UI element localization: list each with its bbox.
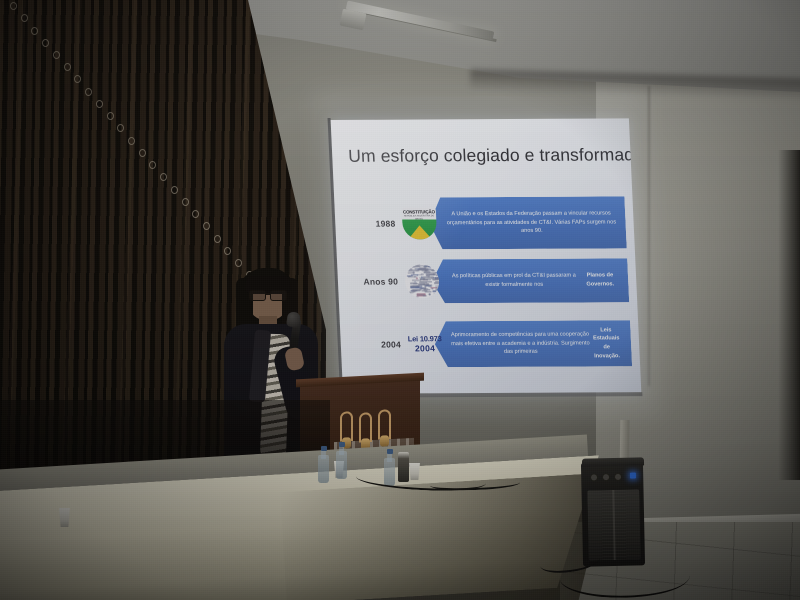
pa-knob[interactable] [602, 473, 610, 481]
pa-power-led-icon [630, 473, 636, 479]
emblem-subheading: REPÚBLICA FEDERATIVA DO BRASIL [402, 215, 436, 220]
pa-knob[interactable] [590, 473, 598, 481]
curtain-hook [203, 222, 210, 230]
pa-knob[interactable] [614, 473, 622, 481]
law-badge: Lei 10.973 2004 [404, 328, 445, 360]
curtain-hook [224, 247, 231, 255]
curtain-hook [10, 2, 17, 10]
bottle-cap [321, 446, 327, 451]
bottle-body [336, 451, 347, 479]
bottle-neck [387, 453, 392, 462]
curtain-hook [192, 210, 199, 218]
projection-screen: Um esforço colegiado e transformador 198… [330, 104, 644, 401]
curtain-hook [64, 63, 71, 71]
medal-disc [380, 435, 389, 446]
word-cloud-icon [403, 263, 441, 299]
curtain-hook [160, 173, 167, 181]
curtain-hook [96, 100, 103, 108]
bottle-cap [387, 449, 393, 454]
curtain-hook [53, 51, 60, 59]
curtain-hook [182, 198, 189, 206]
emblem-heading: CONSTITUIÇÃO [402, 209, 436, 214]
timeline-year-label: 1988 [343, 219, 401, 229]
word-cloud-circle [404, 264, 440, 298]
curtain-hook [42, 39, 49, 47]
law-badge-icon: Lei 10.973 2004 [406, 326, 444, 362]
water-bottle [318, 446, 329, 483]
curtain-hook [171, 186, 178, 194]
pa-control-panel [586, 469, 640, 484]
curtain-hook [107, 112, 114, 120]
emblem-shield: CONSTITUIÇÃO REPÚBLICA FEDERATIVA DO BRA… [402, 207, 437, 239]
law-badge-line1: Lei 10.973 [408, 335, 442, 343]
curtain-hook [21, 14, 28, 22]
timeline-row: 2004 Lei 10.973 2004 Aprimoramento de co… [348, 320, 632, 367]
curtain-hook [128, 137, 135, 145]
bottle-neck [321, 450, 326, 459]
curtain-hook [149, 161, 156, 169]
timeline-row: 1988 CONSTITUIÇÃO REPÚBLICA FEDERATIVA D… [342, 196, 627, 249]
timeline-banner-text: A União e os Estados da Federação passam… [428, 196, 627, 249]
pa-top-handle [582, 457, 644, 466]
bottle-body [318, 455, 329, 483]
presentation-slide: Um esforço colegiado e transformador 198… [331, 118, 642, 393]
timeline-year-label: 2004 [349, 339, 407, 349]
timeline-banner-text: As políticas públicas em prol da CT&I pa… [431, 258, 629, 303]
medal [378, 409, 391, 450]
timeline-year-label: Anos 90 [346, 276, 404, 286]
microphone-head [286, 311, 301, 328]
glasses-icon [249, 290, 287, 300]
water-bottle [336, 442, 347, 479]
curtain-hook [117, 124, 124, 132]
glasses-lens-right [270, 290, 287, 301]
slide-title: Um esforço colegiado e transformador [348, 144, 621, 166]
emblem-triangle [408, 225, 433, 239]
law-badge-line2: 2004 [415, 344, 436, 353]
curtain-hook [139, 149, 146, 157]
curtain-hook [74, 75, 81, 83]
bottle-neck [339, 446, 344, 455]
timeline-row: Anos 90 As políticas públicas em prol da… [345, 258, 629, 303]
photograph-scene: Um esforço colegiado e transformador 198… [0, 0, 800, 600]
constitution-emblem-icon: CONSTITUIÇÃO REPÚBLICA FEDERATIVA DO BRA… [401, 205, 439, 241]
glasses-lens-left [249, 290, 266, 301]
curtain-hook [31, 27, 38, 35]
curtain-hook [214, 235, 221, 243]
curtain-hook [85, 88, 92, 96]
bottle-cap [339, 442, 345, 447]
timeline-banner-text: Aprimoramento de competências para uma c… [434, 320, 632, 367]
wall-right-edge-shadow [778, 150, 800, 480]
